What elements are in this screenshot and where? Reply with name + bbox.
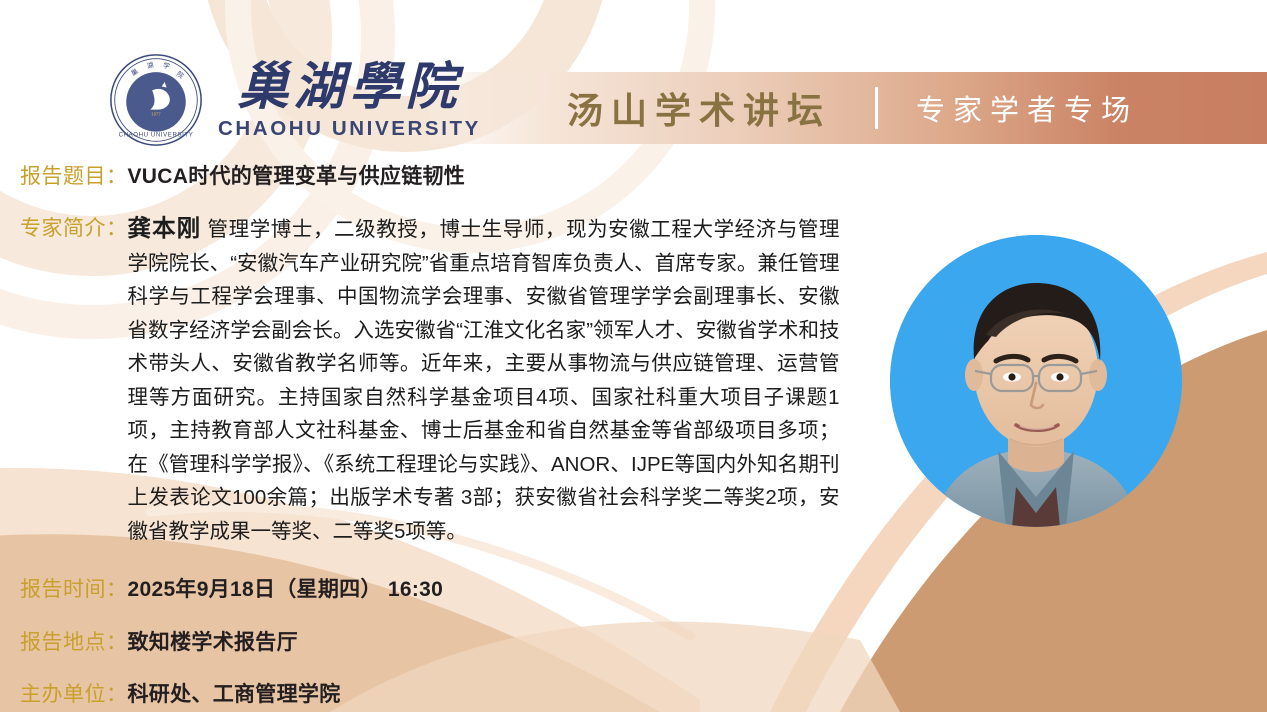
speaker-bio-label: 专家简介： <box>20 212 128 242</box>
report-time-value: 2025年9月18日（星期四） 16:30 <box>128 573 444 603</box>
speaker-bio-body: 管理学博士，二级教授，博士生导师，现为安徽工程大学经济与管理学院院长、“安徽汽车… <box>128 218 840 543</box>
banner-divider <box>875 87 878 129</box>
banner-subtitle: 专家学者专场 <box>916 87 1138 129</box>
svg-text:1977: 1977 <box>151 111 161 116</box>
report-host-value: 科研处、工商管理学院 <box>128 678 341 708</box>
report-time-row: 报告时间： 2025年9月18日（星期四） 16:30 <box>20 573 443 603</box>
poster-root: CHAOHU UNIVERSITY 巢 湖 学 院 1977 巢湖學院 CHAO… <box>0 0 1267 712</box>
report-place-value: 致知楼学术报告厅 <box>128 626 298 656</box>
speaker-portrait <box>890 235 1182 527</box>
university-seal-icon: CHAOHU UNIVERSITY 巢 湖 学 院 1977 <box>108 52 204 148</box>
report-title-row: 报告题目： VUCA时代的管理变革与供应链韧性 <box>20 160 465 190</box>
forum-banner: 汤山学术讲坛 专家学者专场 <box>430 72 1267 144</box>
report-place-label: 报告地点： <box>20 626 128 656</box>
report-title-label: 报告题目： <box>20 160 128 190</box>
svg-text:CHAOHU UNIVERSITY: CHAOHU UNIVERSITY <box>119 131 194 138</box>
report-title-value: VUCA时代的管理变革与供应链韧性 <box>128 160 466 190</box>
speaker-bio-row: 专家简介： 龚本刚 管理学博士，二级教授，博士生导师，现为安徽工程大学经济与管理… <box>20 212 880 548</box>
university-wordmark: 巢湖學院 CHAOHU UNIVERSITY <box>218 63 481 140</box>
report-place-row: 报告地点： 致知楼学术报告厅 <box>20 626 298 656</box>
report-host-row: 主办单位： 科研处、工商管理学院 <box>20 678 341 708</box>
report-host-label: 主办单位： <box>20 678 128 708</box>
speaker-bio-text: 龚本刚 管理学博士，二级教授，博士生导师，现为安徽工程大学经济与管理学院院长、“… <box>128 212 840 548</box>
report-time-label: 报告时间： <box>20 573 128 603</box>
banner-title: 汤山学术讲坛 <box>567 82 831 134</box>
wordmark-english: CHAOHU UNIVERSITY <box>218 119 481 140</box>
wordmark-chinese: 巢湖學院 <box>237 63 461 114</box>
speaker-name: 龚本刚 <box>128 215 202 241</box>
university-logo-block: CHAOHU UNIVERSITY 巢 湖 学 院 1977 巢湖學院 CHAO… <box>108 52 481 148</box>
